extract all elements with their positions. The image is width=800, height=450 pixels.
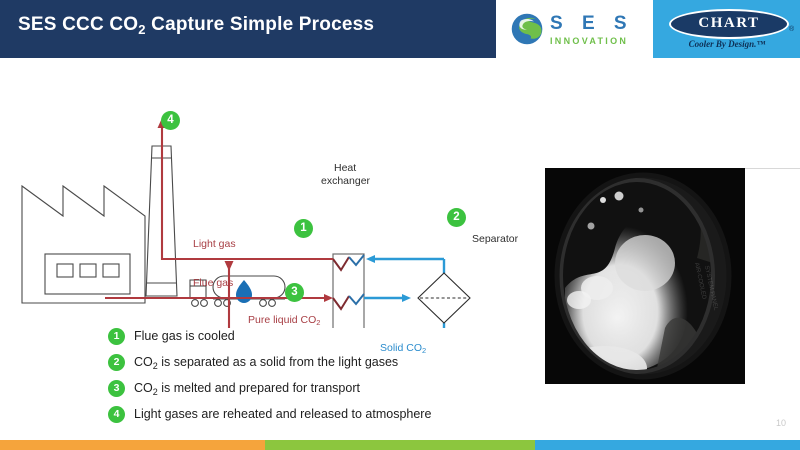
sight-glass-frost-photo: AIR-COOLED SYSTEM PANEL [545, 168, 745, 384]
chart-logo-tagline: Cooler By Design.™ [669, 39, 785, 49]
factory-icon [22, 186, 145, 303]
step-text-3: CO2 is melted and prepared for transport [134, 381, 360, 395]
page-title: SES CCC CO2 Capture Simple Process [18, 14, 374, 36]
heat-exchanger-label-line2: exchanger [321, 175, 370, 187]
process-diagram-svg [0, 58, 540, 328]
heat-exchanger-label-line1: Heat [334, 162, 356, 174]
page-number: 10 [776, 418, 786, 428]
page-title-main: SES CCC CO [18, 14, 138, 35]
flue-gas-label: Flue gas [193, 277, 233, 289]
separator-diamond-icon [418, 273, 470, 323]
light-gas-label: Light gas [193, 238, 236, 250]
page-title-subscript: 2 [138, 22, 145, 37]
list-item: 1 Flue gas is cooled [108, 326, 528, 346]
ses-swirl-icon [510, 12, 544, 46]
diagram-marker-3: 3 [285, 283, 304, 302]
step-text-2: CO2 is separated as a solid from the lig… [134, 355, 398, 369]
heat-exchanger-coils [333, 255, 364, 328]
step-number-2: 2 [108, 354, 125, 371]
ses-logo-letters: S E S [550, 13, 634, 35]
separator-label: Separator [472, 233, 518, 245]
diagram-marker-4: 4 [161, 111, 180, 130]
footer-bar-orange [0, 440, 265, 450]
diagram-marker-2: 2 [447, 208, 466, 227]
chart-logo-registered: ® [789, 26, 794, 33]
ses-logo: S E S INNOVATION [496, 0, 653, 58]
step-number-1: 1 [108, 328, 125, 345]
footer-bar-blue [535, 440, 800, 450]
chart-logo: CHART ® Cooler By Design.™ [653, 0, 800, 58]
step-text-1: Flue gas is cooled [134, 329, 235, 343]
footer-bar-green [265, 440, 535, 450]
pure-liquid-co2-label: Pure liquid CO2 [248, 314, 320, 326]
step-number-4: 4 [108, 406, 125, 423]
process-diagram: Light gas Flue gas Pure liquid CO2 Solid… [0, 58, 540, 328]
pure-liquid-co2-arrowhead [225, 261, 234, 271]
list-item: 4 Light gases are reheated and released … [108, 404, 528, 424]
chart-logo-word: CHART [671, 15, 787, 32]
page-title-rest: Capture Simple Process [146, 14, 374, 35]
flue-gas-arrowhead [324, 294, 333, 302]
sight-glass-photo-art: AIR-COOLED SYSTEM PANEL [545, 168, 745, 384]
steps-list: 1 Flue gas is cooled 2 CO2 is separated … [108, 326, 528, 430]
to-separator-arrowhead [402, 294, 411, 302]
chart-logo-oval: CHART [669, 9, 789, 39]
list-item: 2 CO2 is separated as a solid from the l… [108, 352, 528, 372]
list-item: 3 CO2 is melted and prepared for transpo… [108, 378, 528, 398]
diagram-marker-1: 1 [294, 219, 313, 238]
ses-logo-tagline: INNOVATION [550, 36, 628, 46]
water-droplet-icon [236, 280, 252, 303]
step-text-4: Light gases are reheated and released to… [134, 407, 431, 421]
step-number-3: 3 [108, 380, 125, 397]
cold-light-gas-arrowhead [366, 255, 375, 263]
